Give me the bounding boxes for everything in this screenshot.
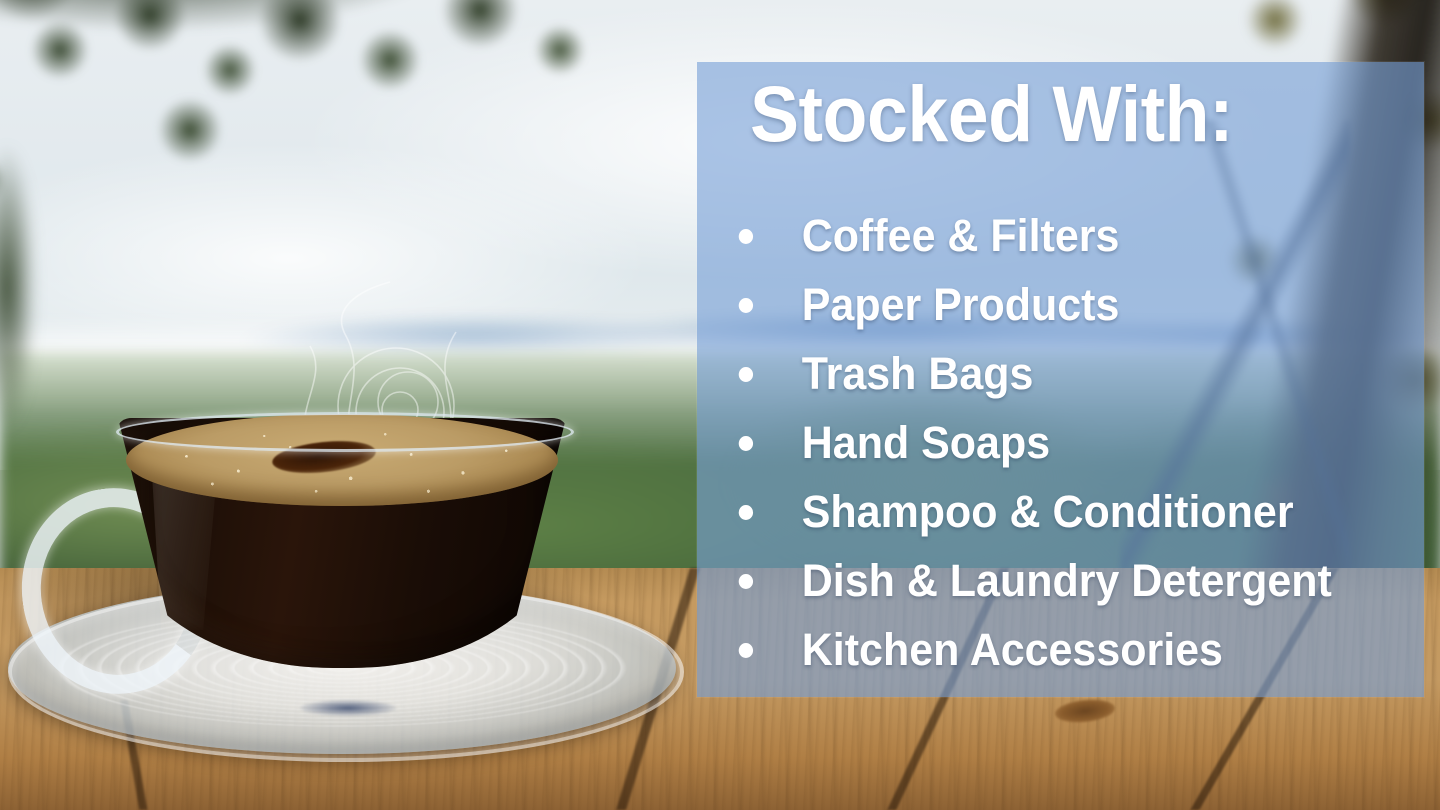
bullet-dot-icon [739,298,753,313]
saucer-maker-mark [300,700,396,716]
panel-title: Stocked With: [750,74,1364,155]
list-item-label: Coffee & Filters [802,210,1120,261]
list-item-label: Paper Products [802,279,1120,330]
stocked-items-list: Coffee & Filters Paper Products Trash Ba… [733,201,1423,684]
list-item: Shampoo & Conditioner [733,477,1392,546]
list-item-label: Hand Soaps [802,417,1050,468]
bullet-dot-icon [739,574,753,589]
cup-rim [116,412,574,452]
list-item: Hand Soaps [733,408,1392,477]
bullet-dot-icon [739,643,753,658]
bullet-dot-icon [739,229,753,244]
list-item-label: Kitchen Accessories [802,624,1223,675]
stocked-with-panel: Stocked With: Coffee & Filters Paper Pro… [697,62,1424,697]
list-item: Coffee & Filters [733,201,1392,270]
bullet-dot-icon [739,367,753,382]
slide-canvas: Stocked With: Coffee & Filters Paper Pro… [0,0,1440,810]
coffee-cup-group [0,370,700,790]
list-item-label: Trash Bags [802,348,1034,399]
tree-canopy-top-left [0,0,700,260]
list-item: Dish & Laundry Detergent [733,546,1392,615]
bullet-dot-icon [739,505,753,520]
list-item: Trash Bags [733,339,1392,408]
list-item-label: Shampoo & Conditioner [802,486,1294,537]
list-item: Kitchen Accessories [733,615,1392,684]
list-item: Paper Products [733,270,1392,339]
bullet-dot-icon [739,436,753,451]
list-item-label: Dish & Laundry Detergent [802,555,1332,606]
